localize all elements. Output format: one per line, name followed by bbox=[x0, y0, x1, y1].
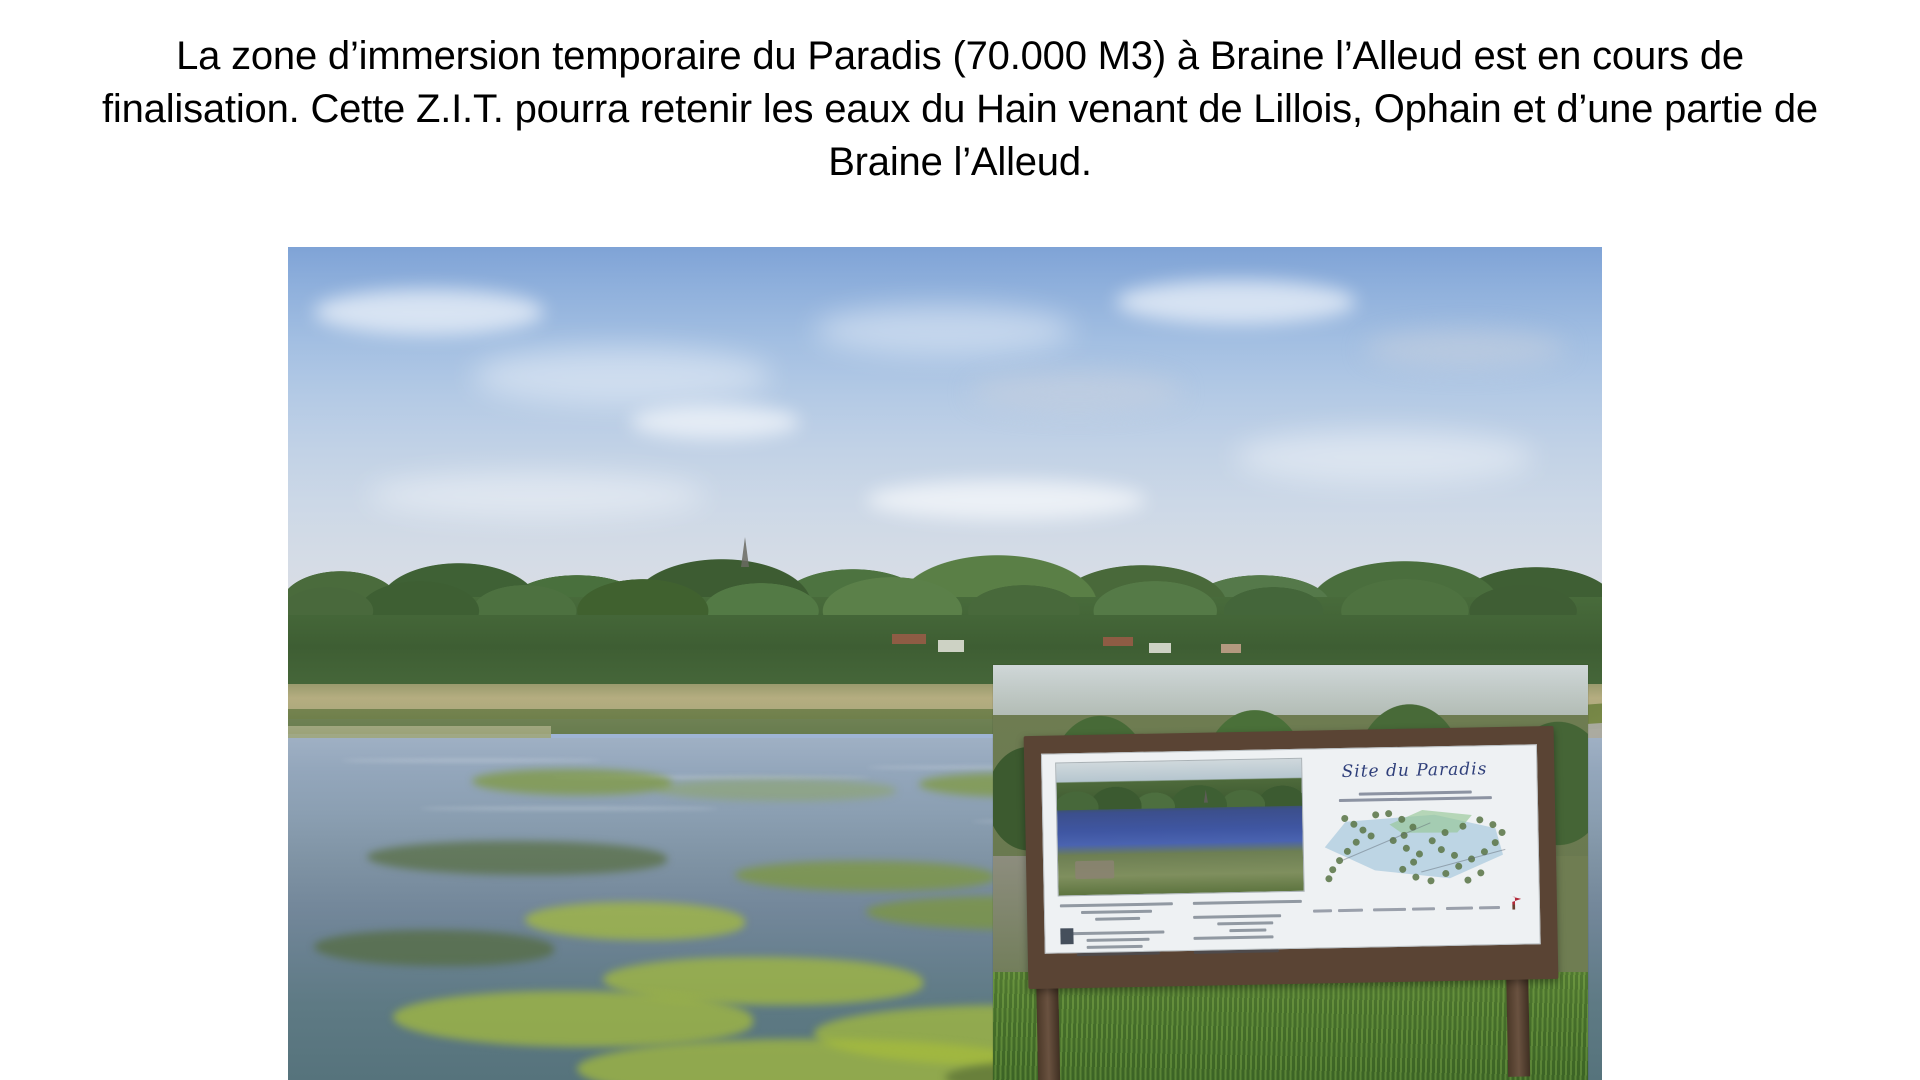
algae-mat bbox=[314, 930, 554, 966]
village-house bbox=[938, 640, 964, 652]
sign-photo-spire-icon bbox=[1203, 790, 1207, 803]
title-line-3: Braine l’Alleud. bbox=[20, 136, 1900, 189]
algae-mat bbox=[525, 902, 745, 940]
slide: La zone d’immersion temporaire du Paradi… bbox=[0, 0, 1920, 1080]
sign-lake-photo bbox=[1055, 758, 1304, 897]
map-legend bbox=[1312, 899, 1521, 921]
title-line-2: finalisation. Cette Z.I.T. pourra reteni… bbox=[20, 83, 1900, 136]
page-title: La zone d’immersion temporaire du Paradi… bbox=[0, 30, 1920, 189]
cloud bbox=[367, 472, 707, 518]
sign-photo-trees bbox=[1056, 780, 1301, 811]
sign-subtitle bbox=[1323, 787, 1506, 805]
algae-mat bbox=[472, 769, 672, 795]
cloud bbox=[971, 372, 1181, 412]
cloud bbox=[866, 480, 1146, 520]
sign-title: Site du Paradis bbox=[1314, 759, 1514, 783]
sign-text-column bbox=[1193, 896, 1312, 958]
map-tree-symbols bbox=[1306, 803, 1525, 910]
cloud bbox=[1116, 280, 1356, 324]
cloud bbox=[314, 289, 544, 335]
sign-text-blocks bbox=[1059, 896, 1317, 948]
sign-panel: Site du Paradis bbox=[1041, 744, 1540, 953]
sign-emblem-icon bbox=[1060, 928, 1073, 944]
church-spire-icon bbox=[741, 537, 749, 567]
algae-mat bbox=[367, 841, 667, 875]
village-house bbox=[1103, 637, 1133, 646]
sign-map: Site du Paradis bbox=[1305, 754, 1525, 924]
village-house bbox=[1149, 643, 1171, 653]
sign-text-column bbox=[1059, 899, 1178, 961]
algae-mat bbox=[656, 779, 896, 801]
information-sign: Site du Paradis bbox=[1023, 726, 1557, 989]
cloud bbox=[814, 305, 1074, 355]
sign-photo-structure bbox=[1075, 861, 1115, 880]
village-house bbox=[1221, 644, 1241, 653]
cloud bbox=[630, 405, 800, 439]
village-house bbox=[892, 634, 926, 644]
inset-photo: Site du Paradis bbox=[993, 665, 1588, 1080]
algae-mat bbox=[735, 861, 995, 891]
title-line-1: La zone d’immersion temporaire du Paradi… bbox=[20, 30, 1900, 83]
cloud bbox=[1234, 430, 1534, 484]
algae-mat bbox=[393, 991, 753, 1047]
cloud bbox=[472, 347, 772, 405]
